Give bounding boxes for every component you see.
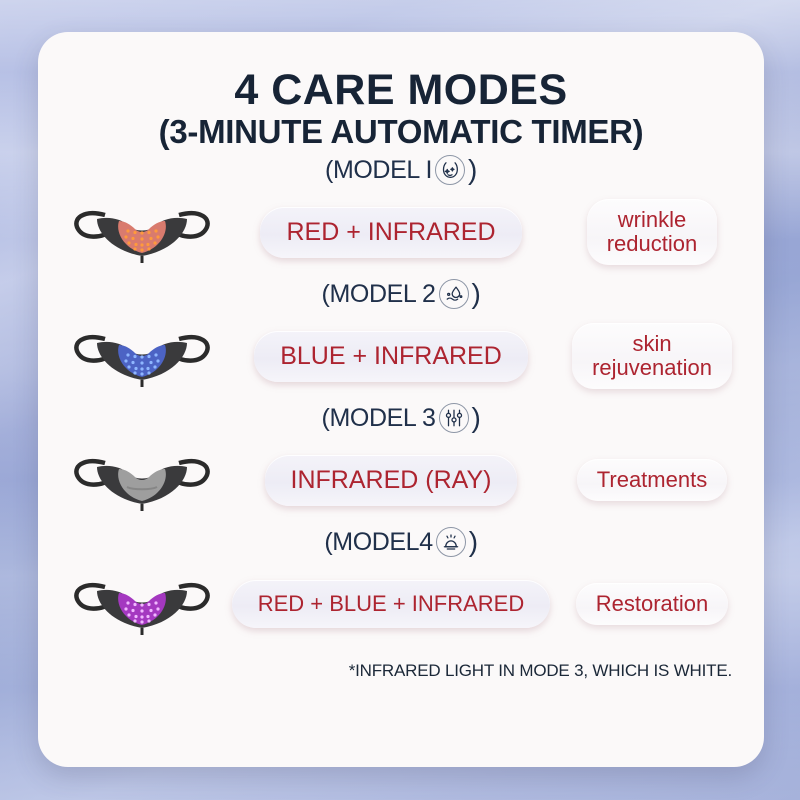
mode-label-2-close: ) — [472, 278, 481, 310]
sliders-icon — [439, 403, 469, 433]
effect-line-1: Restoration — [596, 591, 709, 616]
mode-label-3: (MODEL 3 ) — [38, 399, 764, 437]
pill-cell-1: RED + INFRARED — [228, 207, 554, 258]
effect-cell-4: Restoration — [554, 583, 750, 625]
mode-label-2-text: (MODEL 2 — [322, 280, 436, 309]
mask-red — [67, 195, 217, 269]
page-title: 4 CARE MODES — [38, 66, 764, 115]
mode-label-1: (MODEL I ) — [38, 151, 764, 189]
mask-white — [67, 443, 217, 517]
page-subtitle: (3-MINUTE AUTOMATIC TIMER) — [38, 113, 764, 151]
effect-line-1: skin — [632, 331, 671, 356]
effect-pill-2[interactable]: skin rejuvenation — [572, 323, 732, 389]
mode-label-3-close: ) — [472, 402, 481, 434]
effect-line-2: rejuvenation — [592, 356, 712, 380]
mode-label-1-text: (MODEL I — [325, 156, 432, 185]
mask-cell-1 — [56, 195, 228, 269]
effect-cell-1: wrinkle reduction — [554, 199, 750, 265]
effect-line-1: Treatments — [597, 467, 707, 492]
mode-row-4: RED + BLUE + INFRARED Restoration — [38, 561, 764, 647]
light-mode-pill-4[interactable]: RED + BLUE + INFRARED — [232, 580, 551, 628]
info-card: 4 CARE MODES (3-MINUTE AUTOMATIC TIMER) … — [38, 32, 764, 767]
mask-cell-4 — [56, 567, 228, 641]
effect-cell-3: Treatments — [554, 459, 750, 501]
pill-cell-2: BLUE + INFRARED — [228, 331, 554, 382]
effect-pill-3[interactable]: Treatments — [577, 459, 727, 501]
light-mode-pill-3[interactable]: INFRARED (RAY) — [265, 455, 518, 506]
title-block: 4 CARE MODES (3-MINUTE AUTOMATIC TIMER) — [38, 32, 764, 151]
footnote: *INFRARED LIGHT IN MODE 3, WHICH IS WHIT… — [38, 647, 764, 681]
mode-label-3-text: (MODEL 3 — [322, 404, 436, 433]
water-drop-icon — [439, 279, 469, 309]
mode-row-2: BLUE + INFRARED skin rejuvenation — [38, 313, 764, 399]
effect-line-2: reduction — [607, 232, 698, 256]
mode-label-4-text: (MODEL4 — [324, 528, 432, 557]
mode-label-4-close: ) — [469, 526, 478, 558]
sparkle-face-icon — [435, 155, 465, 185]
effect-line-1: wrinkle — [618, 207, 686, 232]
effect-pill-4[interactable]: Restoration — [576, 583, 729, 625]
effect-pill-1[interactable]: wrinkle reduction — [587, 199, 718, 265]
mode-row-1: RED + INFRARED wrinkle reduction — [38, 189, 764, 275]
mask-blue — [67, 319, 217, 393]
mode-row-3: INFRARED (RAY) Treatments — [38, 437, 764, 523]
pill-cell-4: RED + BLUE + INFRARED — [228, 580, 554, 628]
pill-cell-3: INFRARED (RAY) — [228, 455, 554, 506]
light-mode-pill-1[interactable]: RED + INFRARED — [260, 207, 521, 258]
light-mode-pill-2[interactable]: BLUE + INFRARED — [254, 331, 528, 382]
effect-cell-2: skin rejuvenation — [554, 323, 750, 389]
lamp-icon — [436, 527, 466, 557]
mode-label-2: (MODEL 2 ) — [38, 275, 764, 313]
mask-purple — [67, 567, 217, 641]
mode-label-1-close: ) — [468, 154, 477, 186]
mask-cell-2 — [56, 319, 228, 393]
mask-cell-3 — [56, 443, 228, 517]
mode-label-4: (MODEL4 ) — [38, 523, 764, 561]
